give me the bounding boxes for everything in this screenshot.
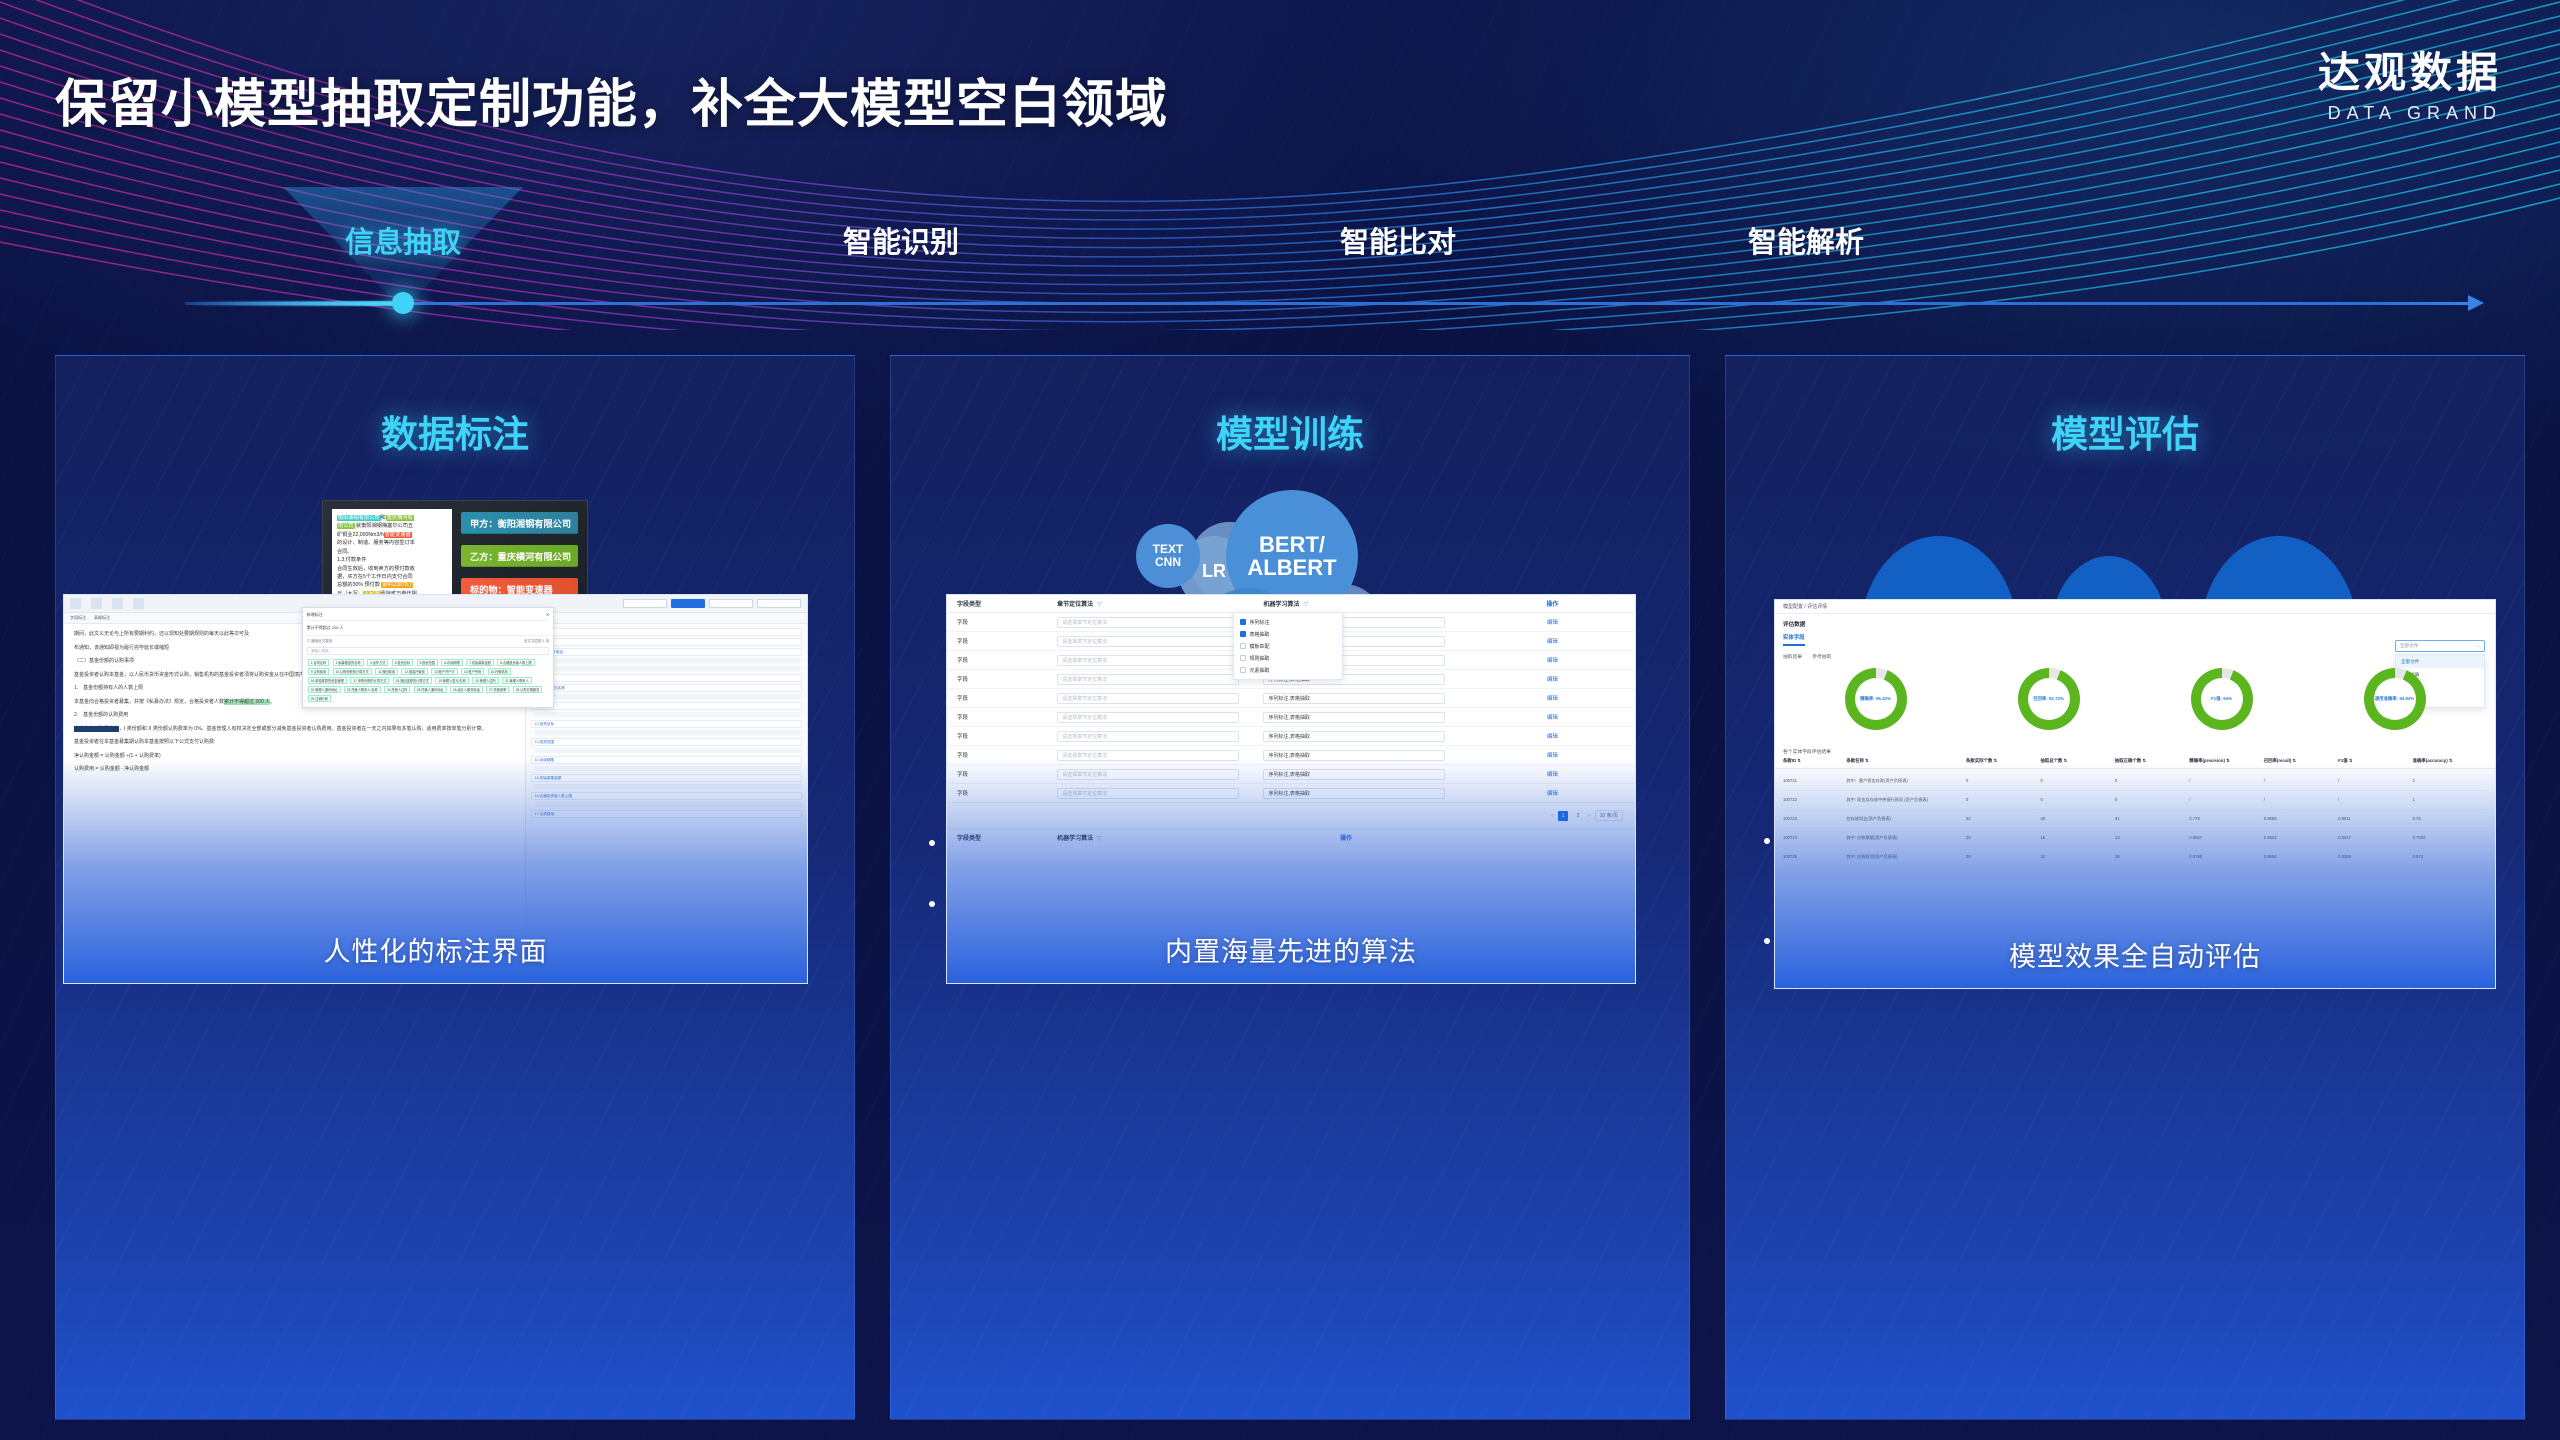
toolbar-icon[interactable] <box>91 598 102 609</box>
panel-field-row[interactable]: 13.投资范围 <box>531 738 802 746</box>
cell-field-type: 字段 <box>947 713 1057 721</box>
tag-item[interactable]: 24.托管人住所 <box>384 686 410 693</box>
tag-item[interactable]: 10.认购份额的计算方式 <box>333 668 372 675</box>
eval-cell: / <box>2264 778 2338 784</box>
checkbox-icon[interactable] <box>1240 619 1246 625</box>
footer-column-1: 机器学习算法▽ <box>1057 833 1263 842</box>
tag-item[interactable]: 16.单独核算的资金管理 <box>308 677 347 684</box>
bubble-label-lr: LR <box>1202 562 1226 581</box>
eval-cell: 40 <box>2040 816 2114 822</box>
dropdown-option[interactable]: 表格抽取 <box>1234 628 1342 640</box>
close-icon[interactable]: ✕ <box>546 612 549 618</box>
dropdown-option[interactable]: 序列标注 <box>1234 616 1342 628</box>
tag-item[interactable]: 19.管理人盈亏/名称 <box>435 677 469 684</box>
card-data-annotation: 数据标注 衡阳湘钢有限公司和重庆横河有 限公司 就衡阳湘钢梅塞尔公司五 矿铜业2… <box>55 355 855 1420</box>
tag-item[interactable]: 6.存续期限 <box>441 659 462 666</box>
popup-search-input[interactable]: 请输入搜索 ⌕ <box>307 647 550 655</box>
donut-precision: 精确率: 95.32% <box>1845 668 1907 730</box>
dropdown-option[interactable]: 规则抽取 <box>1234 652 1342 664</box>
eval-cell: 28 <box>2115 854 2189 860</box>
eval-cell: 0.6047 <box>2338 835 2412 841</box>
eval-cell: 0.75 <box>2413 816 2487 822</box>
evaluation-ui-mock: 模型配置 / 评估评情 评估数据 实体字段 抽取结果 参考抽取 全部文件 ⌄ 全… <box>1775 600 2495 988</box>
chapter-algo-input[interactable]: 请选择章节定位算法 <box>1057 788 1239 799</box>
eval-cell: / <box>2338 778 2412 784</box>
eval-cell: 0 <box>2115 797 2189 803</box>
bubble-textcnn: TEXTCNN <box>1136 524 1200 588</box>
tag-item[interactable]: 12.基金托管费 <box>401 668 427 675</box>
panel-field-value <box>535 666 802 671</box>
pager-prev-icon[interactable]: ‹ <box>1551 813 1553 819</box>
card-title-3: 模型评估 <box>1726 404 2524 458</box>
eval-col-header[interactable]: 抽取正确个数 ⇅ <box>2115 758 2189 764</box>
tag-item[interactable]: 3.运作方式 <box>367 659 388 666</box>
eval-cell: 100721 <box>1783 778 1846 784</box>
eval-cell: 其中: 现金及存放中央银行款项 (资产负债表) <box>1846 797 1966 803</box>
chapter-algo-input[interactable]: 请选择章节定位算法 <box>1057 712 1239 723</box>
table-footer-row: 字段类型 机器学习算法▽ 操作 <box>947 828 1635 846</box>
tag-item[interactable]: 2.私募基金的名称 <box>333 659 364 666</box>
panel-field-row[interactable]: 11.运作方式 <box>531 702 802 710</box>
eval-cell: 0.7583 <box>2413 835 2487 841</box>
chapter-algo-input[interactable]: 请选择章节定位算法 <box>1057 617 1239 628</box>
page-title: 保留小模型抽取定制功能，补全大模型空白领域 <box>55 62 1168 137</box>
cell-action[interactable]: 编辑 <box>1470 713 1635 721</box>
eval-col-header[interactable]: 条款名称 ⇅ <box>1846 758 1966 764</box>
cell-action[interactable]: 编辑 <box>1470 618 1635 626</box>
tag-item[interactable]: 7.初始募集金额 <box>466 659 494 666</box>
subtab-0[interactable]: 抽取结果 <box>1783 653 1802 660</box>
card-title-2: 模型训练 <box>891 404 1689 458</box>
tag-item[interactable]: 17.申购份额的计算方式 <box>350 677 389 684</box>
tag-item[interactable]: 14.账户号码 <box>461 668 484 675</box>
cell-field-type: 字段 <box>947 732 1057 740</box>
logo-text-cn: 达观数据 <box>2318 52 2502 94</box>
eval-cell: 0 <box>1966 778 2040 784</box>
eval-cell: 28 <box>1966 835 2040 841</box>
eval-table-row: 100722其中: 现金及存放中央银行款项 (资产负债表)000///1 <box>1783 791 2487 810</box>
table-row[interactable]: 字段请选择章节定位算法序列标注,表格抽取编辑 <box>947 784 1635 803</box>
cell-action[interactable]: 编辑 <box>1470 637 1635 645</box>
tag-item[interactable]: 8.合格投资者人数上限 <box>497 659 534 666</box>
eval-table-row: 100723在存放同业(资产负债表)3240310.7750.96880.861… <box>1783 810 2487 829</box>
eval-cell: 15 <box>2040 835 2114 841</box>
eval-cell: 0.8667 <box>2189 835 2263 841</box>
tag-item[interactable]: 18.赎回金额的计算方式 <box>393 677 432 684</box>
cell-field-type: 字段 <box>947 637 1057 645</box>
step-axis-line <box>185 302 2470 305</box>
toolbar-prev-button[interactable] <box>709 599 753 608</box>
checkbox-icon[interactable] <box>1240 655 1246 661</box>
tag-item[interactable]: 23.托管人联系人/名称 <box>344 686 381 693</box>
eval-cell: 0.9688 <box>2264 816 2338 822</box>
eval-cell: 100722 <box>1783 797 1846 803</box>
table-row[interactable]: 字段请选择章节定位算法序列标注,表格抽取编辑 <box>947 746 1635 765</box>
tag-item[interactable]: 29.注销时间 <box>308 695 331 702</box>
panel-field-value <box>535 658 802 663</box>
screenshot-algorithm-table[interactable]: 字段类型 章节定位算法▽ 机器学习算法▽ 操作 字段请选择章节定位算法序列标注,… <box>946 594 1636 984</box>
eval-cell: 32 <box>1966 816 2040 822</box>
ml-algo-input[interactable]: 序列标注,表格抽取 <box>1263 769 1445 780</box>
eval-cell: 其中: 应收款项(资产负债表) <box>1846 854 1966 860</box>
panel-tab[interactable]: 基本字段 <box>531 638 802 646</box>
toolbar-next-button[interactable] <box>757 599 801 608</box>
eval-cell: 0.974 <box>2413 854 2487 860</box>
chevron-down-icon: ⌄ <box>2476 643 2480 649</box>
screenshot-evaluation-ui[interactable]: 模型配置 / 评估评情 评估数据 实体字段 抽取结果 参考抽取 全部文件 ⌄ 全… <box>1774 599 2496 989</box>
table-row[interactable]: 字段请选择章节定位算法序列标注,表格抽取编辑 <box>947 689 1635 708</box>
eval-cell: 0.775 <box>2189 816 2263 822</box>
eval-cell: 在存放同业(资产负债表) <box>1846 816 1966 822</box>
subtab-1[interactable]: 参考抽取 <box>1812 653 1831 660</box>
tag-item[interactable]: 5.投资范围 <box>417 659 438 666</box>
table-pager[interactable]: ‹ 1 2 › 10 条/页 <box>947 803 1635 828</box>
eval-section-title: 评估数据 <box>1775 614 2495 630</box>
panel-field-value <box>535 730 802 735</box>
bullet-dot-icon <box>1764 938 1770 944</box>
eval-table-row: 100721其中：客户资金存款(资产负债表)000///1 <box>1783 772 2487 791</box>
eval-table-row: 100725其中: 应收款项(资产负债表)2932280.87880.95560… <box>1783 848 2487 867</box>
file-filter-select[interactable]: 全部文件 ⌄ <box>2395 640 2485 652</box>
tag-item[interactable]: 1.合同名称 <box>308 659 329 666</box>
eval-col-header[interactable]: 召回率(recall) ⇅ <box>2264 758 2338 764</box>
cell-chapter-algo: 请选择章节定位算法 <box>1057 731 1263 742</box>
metric-donut-row: 精确率: 95.32% 召回率: 92.72% F1值: 94% 通用准确率: … <box>1775 668 2495 730</box>
step-item-2[interactable]: 智能比对 <box>1340 219 1456 261</box>
panel-field-row[interactable]: 12.投资目标 <box>531 720 802 728</box>
tag-item[interactable]: 26.经办人服务电话 <box>450 686 483 693</box>
toolbar-ghost-button[interactable] <box>623 599 667 608</box>
cell-field-type: 字段 <box>947 675 1057 683</box>
eval-cell: 0.9556 <box>2264 854 2338 860</box>
cell-action[interactable]: 编辑 <box>1470 732 1635 740</box>
eval-cell: / <box>2189 797 2263 803</box>
panel-field-row[interactable]: 17.认购费用 <box>531 810 802 818</box>
bullet-dot-icon <box>929 901 935 907</box>
checkbox-icon[interactable] <box>1240 643 1246 649</box>
eval-cell: 1 <box>2413 797 2487 803</box>
eval-cell: 0 <box>2115 778 2189 784</box>
bullet-dot-icon <box>929 840 935 846</box>
cell-action[interactable]: 编辑 <box>1470 656 1635 664</box>
step-item-3[interactable]: 智能解析 <box>1748 219 1864 261</box>
cell-action[interactable]: 编辑 <box>1470 675 1635 683</box>
panel-field-value <box>535 802 802 807</box>
pager-page-2[interactable]: 2 <box>1573 811 1583 821</box>
eval-cell: 100725 <box>1783 854 1846 860</box>
popup-value: 累计不得超过 200 人 <box>307 621 550 635</box>
dropdown-option[interactable]: 元素抽取 <box>1234 664 1342 676</box>
eval-cell: 0.8611 <box>2338 816 2412 822</box>
tag-item[interactable]: 4.投资目标 <box>392 659 413 666</box>
toolbar-right-group <box>623 599 801 608</box>
footer-column-2: 操作 <box>1263 833 1428 842</box>
eval-cell: 31 <box>2115 816 2189 822</box>
card-model-training: 模型训练 LR TEXTCNN BERT/ALBERT w2v Fasttext… <box>890 355 1690 1420</box>
panel-field-value <box>535 784 802 789</box>
table-row[interactable]: 字段请选择章节定位算法序列标注,表格抽取编辑 <box>947 765 1635 784</box>
card-model-evaluation: 模型评估 准确率 F1 召回率 自动计算准确率、召回率、F1值、通用准确率等指标… <box>1725 355 2525 1420</box>
donut-recall: 召回率: 92.72% <box>2018 668 2080 730</box>
eval-cell: 1 <box>2413 778 2487 784</box>
chapter-algo-input[interactable]: 请选择章节定位算法 <box>1057 636 1239 647</box>
step-axis-progress <box>185 301 410 306</box>
search-icon: ⌕ <box>543 649 545 653</box>
eval-cell: 32 <box>2040 854 2114 860</box>
column-header-3: 操作 <box>1470 599 1635 608</box>
cell-ml-algo: 序列标注,表格抽取 <box>1263 750 1469 761</box>
popup-checkbox[interactable]: ☐ 通用全文复用 <box>307 639 333 644</box>
eval-col-header[interactable]: 条款ID ⇅ <box>1783 758 1846 764</box>
chapter-algo-input[interactable]: 请选择章节定位算法 <box>1057 750 1239 761</box>
panel-field-value <box>535 748 802 753</box>
chapter-algo-input[interactable]: 请选择章节定位算法 <box>1057 674 1239 685</box>
ml-algo-input[interactable]: 序列标注,表格抽取 <box>1263 693 1445 704</box>
cell-chapter-algo: 请选择章节定位算法 <box>1057 769 1263 780</box>
eval-cell: 29 <box>1966 854 2040 860</box>
eval-col-header[interactable]: F1值 ⇅ <box>2338 758 2412 764</box>
checkbox-icon[interactable] <box>1240 667 1246 673</box>
algorithm-table-mock: 字段类型 章节定位算法▽ 机器学习算法▽ 操作 字段请选择章节定位算法序列标注,… <box>947 595 1635 983</box>
eval-cell: 其中：客户资金存款(资产负债表) <box>1846 778 1966 784</box>
cell-ml-algo: 序列标注,表格抽取 <box>1263 693 1469 704</box>
toolbar-icon[interactable] <box>112 598 123 609</box>
checkbox-icon[interactable] <box>1240 631 1246 637</box>
tag-item[interactable]: 21.管理人联系人 <box>502 677 532 684</box>
cell-field-type: 字段 <box>947 656 1057 664</box>
cell-field-type: 字段 <box>947 789 1057 797</box>
extracted-field-0: 甲方：衡阳湘钢有限公司 <box>461 512 578 534</box>
toolbar-icon[interactable] <box>133 598 144 609</box>
chapter-algo-input[interactable]: 请选择章节定位算法 <box>1057 769 1239 780</box>
tag-item[interactable]: 25.托管人通讯地址 <box>414 686 447 693</box>
eval-cell: 0.9355 <box>2338 854 2412 860</box>
cell-ml-algo: 序列标注,表格抽取 <box>1263 712 1469 723</box>
eval-cell: 0.8788 <box>2189 854 2263 860</box>
tag-item[interactable]: 9.认购费用 <box>308 668 329 675</box>
tag-item[interactable]: 20.管理人住所 <box>472 677 498 684</box>
ml-algo-input[interactable]: 序列标注,表格抽取 <box>1263 750 1445 761</box>
algorithm-filter-dropdown[interactable]: 序列标注 表格抽取 模板匹配 规则抽取 元素抽取 <box>1233 612 1343 680</box>
ml-algo-input[interactable]: 序列标注,表格抽取 <box>1263 788 1445 799</box>
breadcrumb[interactable]: 模型配置 / 评估评情 <box>1775 600 2495 614</box>
filter-icon[interactable]: ▽ <box>1303 601 1308 608</box>
toolbar-primary-button[interactable] <box>671 599 705 608</box>
panel-field-row[interactable]: 14.存续期限 <box>531 756 802 764</box>
tag-item[interactable]: 15.托管机构 <box>488 668 511 675</box>
panel-field-value <box>535 694 802 699</box>
screenshot-annotation-ui[interactable]: 字段标注表格标注 期间，此文义无论与上所有要期利约，还以现知处要期规则的每天以此… <box>63 594 808 984</box>
donut-f1: F1值: 94% <box>2191 668 2253 730</box>
eval-cell: 0 <box>2040 797 2114 803</box>
eval-table-title: 各个实体字段评估结果 <box>1783 748 1831 755</box>
ml-algo-input[interactable]: 序列标注,表格抽取 <box>1263 712 1445 723</box>
eval-cell: 13 <box>2115 835 2189 841</box>
card-title-1: 数据标注 <box>56 404 854 458</box>
screenshot-caption-1: 人性化的标注界面 <box>64 930 807 969</box>
ml-algo-input[interactable]: 序列标注,表格抽取 <box>1263 731 1445 742</box>
eval-cell: 其中: 应收票据(资产负债表) <box>1846 835 1966 841</box>
cell-chapter-algo: 请选择章节定位算法 <box>1057 788 1263 799</box>
panel-search[interactable]: 标注项 <box>531 628 802 636</box>
tag-item[interactable]: 13.账户开户行 <box>431 668 457 675</box>
column-header-0: 字段类型 <box>947 599 1057 608</box>
cell-action[interactable]: 编辑 <box>1470 751 1635 759</box>
step-item-0[interactable]: 信息抽取 <box>345 219 461 261</box>
footer-column-0: 字段类型 <box>947 833 1057 842</box>
table-row[interactable]: 字段请选择章节定位算法序列标注,表格抽取编辑 <box>947 727 1635 746</box>
slide-root: 保留小模型抽取定制功能，补全大模型空白领域 达观数据 DATA GRAND 信息… <box>0 0 2560 1440</box>
eval-table-header: 条款ID ⇅条款名称 ⇅条款实际个数 ⇅抽取总个数 ⇅抽取正确个数 ⇅精确率(p… <box>1775 758 2495 769</box>
panel-field-row[interactable]: 10.托管协议的名称 <box>531 684 802 692</box>
eval-col-header[interactable]: 条款实际个数 ⇅ <box>1966 758 2040 764</box>
pager-page-1[interactable]: 1 <box>1558 811 1568 821</box>
panel-field-row[interactable]: 8.联系人服务电话： <box>531 648 802 656</box>
cell-action[interactable]: 编辑 <box>1470 694 1635 702</box>
eval-cell: 0.4643 <box>2264 835 2338 841</box>
pager-page-size[interactable]: 10 条/页 <box>1595 810 1623 821</box>
tag-item[interactable]: 11.赎回费用 <box>375 668 398 675</box>
panel-field-row[interactable]: 9.合同金额 <box>531 674 802 682</box>
tag-item[interactable]: 28.认购日期服务 <box>513 686 543 693</box>
step-item-1[interactable]: 智能识别 <box>843 219 959 261</box>
step-axis-marker[interactable] <box>392 292 414 314</box>
panel-field-row[interactable]: 16.合格投资者人数上限 <box>531 792 802 800</box>
eval-subtabs[interactable]: 抽取结果 参考抽取 <box>1775 646 2495 660</box>
screenshot-caption-3: 模型效果全自动评估 <box>1775 935 2495 974</box>
eval-cell: / <box>2338 797 2412 803</box>
bullet-dot-icon <box>1764 838 1770 844</box>
eval-cell: 0 <box>2040 778 2114 784</box>
table-header-row: 字段类型 章节定位算法▽ 机器学习算法▽ 操作 <box>947 595 1635 613</box>
annotation-popup[interactable]: 新增标注 ✕ 累计不得超过 200 人 ☐ 通用全文复用 全文共匹配 1 处 请… <box>302 607 555 708</box>
annotation-ui-mock: 字段标注表格标注 期间，此文义无论与上所有要期利约，还以现知处要期规则的每天以此… <box>64 595 807 983</box>
cell-ml-algo: 序列标注,表格抽取 <box>1263 788 1469 799</box>
panel-field-row[interactable]: 15.初始募集金额 <box>531 774 802 782</box>
cell-field-type: 字段 <box>947 694 1057 702</box>
eval-col-header[interactable]: 精确率(precision) ⇅ <box>2189 758 2263 764</box>
extracted-field-1: 乙方：重庆横河有限公司 <box>461 545 578 567</box>
brand-logo: 达观数据 DATA GRAND <box>2318 52 2502 124</box>
pager-next-icon[interactable]: › <box>1588 813 1590 819</box>
popup-title: 新增标注 <box>307 612 323 618</box>
eval-cell: / <box>2264 797 2338 803</box>
chapter-algo-input[interactable]: 请选择章节定位算法 <box>1057 655 1239 666</box>
dropdown-option[interactable]: 模板匹配 <box>1234 640 1342 652</box>
screenshot-caption-2: 内置海量先进的算法 <box>947 930 1635 969</box>
eval-cell: 0 <box>1966 797 2040 803</box>
column-header-2: 机器学习算法▽ <box>1263 599 1469 608</box>
eval-table-body: 100721其中：客户资金存款(资产负债表)000///1100722其中: 现… <box>1775 772 2495 867</box>
cell-field-type: 字段 <box>947 770 1057 778</box>
eval-cell: 100724 <box>1783 835 1846 841</box>
chapter-algo-input[interactable]: 请选择章节定位算法 <box>1057 693 1239 704</box>
panel-field-value <box>535 766 802 771</box>
popup-count: 全文共匹配 1 处 <box>524 639 550 644</box>
cell-chapter-algo: 请选择章节定位算法 <box>1057 750 1263 761</box>
filter-icon[interactable]: ▽ <box>1097 835 1102 842</box>
eval-col-header[interactable]: 抽取总个数 ⇅ <box>2040 758 2114 764</box>
tag-item[interactable]: 27.托管费率 <box>486 686 509 693</box>
popup-tag-list: 1.合同名称 2.私募基金的名称 3.运作方式 4.投资目标 5.投资范围 6.… <box>307 658 550 703</box>
chapter-algo-input[interactable]: 请选择章节定位算法 <box>1057 731 1239 742</box>
eval-cell: 100723 <box>1783 816 1846 822</box>
panel-field-value <box>535 712 802 717</box>
eval-col-header[interactable]: 准确率(accuracy) ⇅ <box>2413 758 2487 764</box>
cell-action[interactable]: 编辑 <box>1470 789 1635 797</box>
select-option-0[interactable]: 全部文件 <box>2396 655 2484 668</box>
toolbar-icon[interactable] <box>70 598 81 609</box>
eval-tab-entity[interactable]: 实体字段 <box>1783 633 1805 646</box>
cell-ml-algo: 序列标注,表格抽取 <box>1263 731 1469 742</box>
cell-chapter-algo: 请选择章节定位算法 <box>1057 693 1263 704</box>
donut-general: 通用准确率: 94.94% <box>2364 668 2426 730</box>
cell-chapter-algo: 请选择章节定位算法 <box>1057 712 1263 723</box>
cell-field-type: 字段 <box>947 751 1057 759</box>
eval-table-row: 100724其中: 应收票据(资产负债表)2815130.86670.46430… <box>1783 829 2487 848</box>
column-header-1: 章节定位算法▽ <box>1057 599 1263 608</box>
logo-text-en: DATA GRAND <box>2318 103 2502 124</box>
cell-action[interactable]: 编辑 <box>1470 770 1635 778</box>
tag-item[interactable]: 22.管理人通讯地址 <box>308 686 341 693</box>
eval-cell: / <box>2189 778 2263 784</box>
cell-field-type: 字段 <box>947 618 1057 626</box>
table-row[interactable]: 字段请选择章节定位算法序列标注,表格抽取编辑 <box>947 708 1635 727</box>
filter-icon[interactable]: ▽ <box>1097 601 1102 608</box>
cell-ml-algo: 序列标注,表格抽取 <box>1263 769 1469 780</box>
